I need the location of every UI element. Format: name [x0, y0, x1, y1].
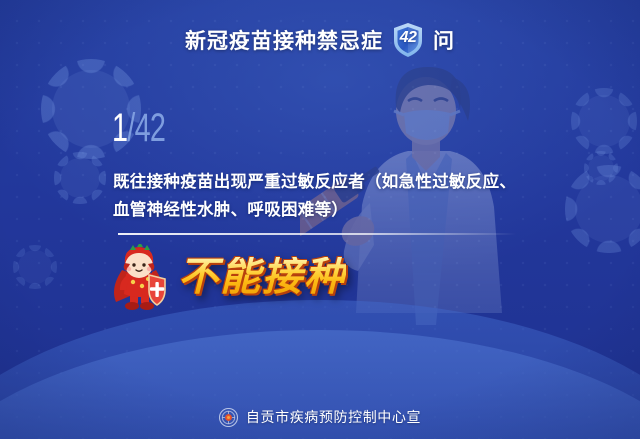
shield-icon: 42 [392, 22, 424, 58]
counter-total: 42 [135, 106, 166, 150]
counter-current: 1 [112, 106, 127, 150]
section-divider [118, 233, 516, 235]
verdict-row: 不能接种 [108, 244, 346, 310]
badge-number: 42 [392, 29, 424, 47]
page-title-suffix: 问 [433, 25, 455, 55]
vaccine-contraindication-poster: 新冠疫苗接种禁忌症 42 [0, 0, 640, 439]
verdict-label: 不能接种 [178, 257, 346, 297]
poster-header: 新冠疫苗接种禁忌症 42 [0, 22, 640, 58]
footer-organization: 自贡市疾病预防控制中心宣 [246, 407, 421, 427]
question-counter: 1/42 [112, 108, 165, 148]
page-title: 新冠疫苗接种禁忌症 [185, 25, 383, 55]
question-text: 既往接种疫苗出现严重过敏反应者（如急性过敏反应、血管神经性水肿、呼吸困难等） [113, 168, 531, 224]
mascot-shield-hero-icon [108, 244, 170, 310]
poster-footer: 自贡市疾病预防控制中心宣 [0, 407, 640, 427]
cdc-emblem-icon [219, 408, 238, 427]
